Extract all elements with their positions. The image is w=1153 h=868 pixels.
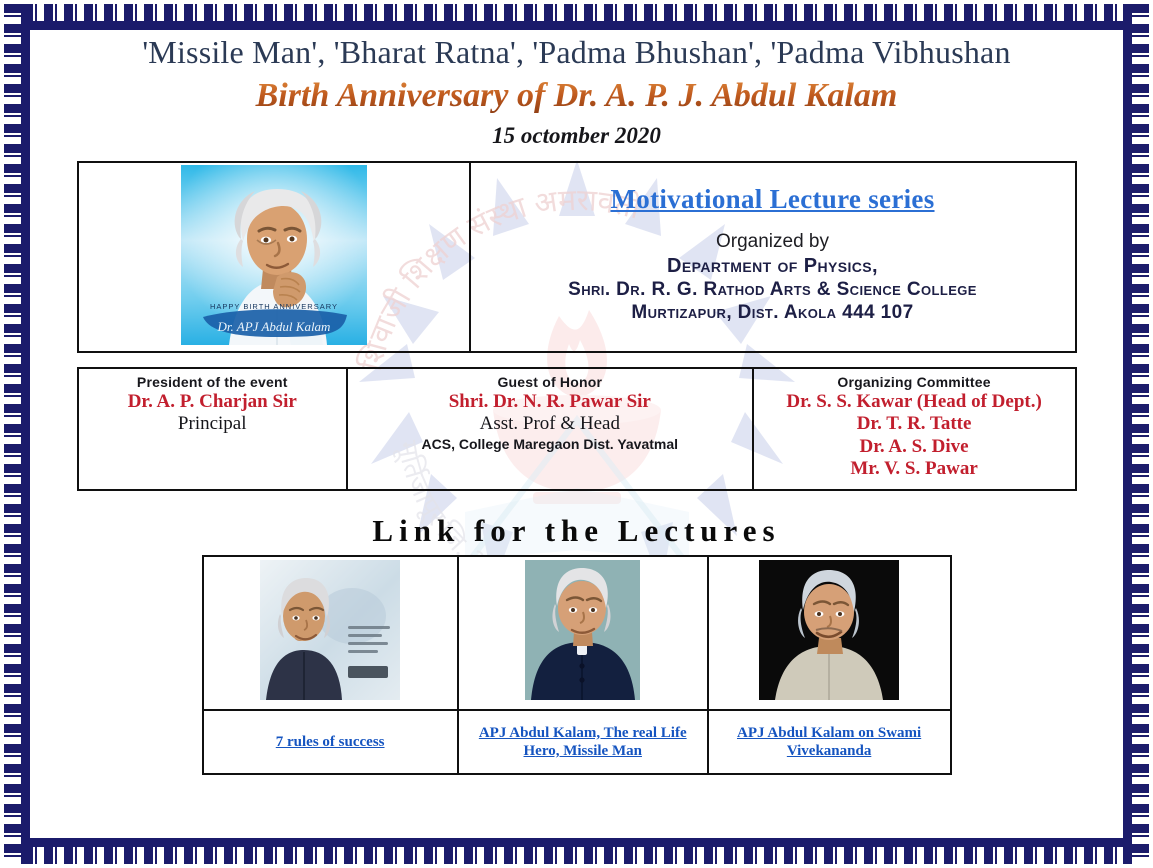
president-role-label: President of the event [85, 374, 340, 390]
border-top [4, 4, 1149, 30]
organizing-committee-cell: Organizing Committee Dr. S. S. Kawar (He… [753, 368, 1076, 490]
page-title: Birth Anniversary of Dr. A. P. J. Abdul … [34, 77, 1119, 115]
event-date: 15 octomber 2020 [34, 123, 1119, 149]
lecture-series-title: Motivational Lecture series [481, 184, 1065, 215]
lecture-link-cell-1[interactable]: 7 rules of success [203, 710, 458, 774]
lecture-info-cell: Motivational Lecture series Organized by… [470, 162, 1076, 352]
lecture-link-3[interactable]: APJ Abdul Kalam on Swami Vivekananda [715, 724, 944, 760]
president-cell: President of the event Dr. A. P. Charjan… [78, 368, 347, 490]
border-right [1123, 4, 1149, 864]
guest-role-label: Guest of Honor [354, 374, 746, 390]
poster-canvas: शिवाजी शिक्षण संस्था अमरावती मूर्तिजापूर… [34, 32, 1119, 836]
lecture-thumbnail-1 [260, 560, 400, 700]
committee-head: Dr. S. S. Kawar (Head of Dept.) [760, 391, 1069, 413]
table-row: 7 rules of success APJ Abdul Kalam, The … [203, 710, 951, 774]
department-name: Department of Physics, [481, 254, 1065, 278]
lecture-link-cell-2[interactable]: APJ Abdul Kalam, The real Life Hero, Mis… [458, 710, 708, 774]
table-row: HAPPY BIRTH ANNIVERSARY Dr. APJ Abdul Ka… [78, 162, 1076, 352]
border-left [4, 4, 30, 864]
table-row: President of the event Dr. A. P. Charjan… [78, 368, 1076, 490]
guest-affiliation: ACS, College Maregaon Dist. Yavatmal [354, 436, 746, 454]
lecture-thumb-cell-3[interactable] [708, 556, 951, 710]
header-table: HAPPY BIRTH ANNIVERSARY Dr. APJ Abdul Ka… [77, 161, 1077, 353]
svg-text:Dr. APJ Abdul Kalam: Dr. APJ Abdul Kalam [216, 319, 330, 334]
honorific-titles-line: 'Missile Man', 'Bharat Ratna', 'Padma Bh… [34, 34, 1119, 71]
border-bottom [4, 838, 1149, 864]
guest-of-honor-cell: Guest of Honor Shri. Dr. N. R. Pawar Sir… [347, 368, 753, 490]
president-designation: Principal [85, 413, 340, 436]
kalam-poster-cell: HAPPY BIRTH ANNIVERSARY Dr. APJ Abdul Ka… [78, 162, 470, 352]
lecture-link-cell-3[interactable]: APJ Abdul Kalam on Swami Vivekananda [708, 710, 951, 774]
committee-member: Dr. T. R. Tatte [760, 413, 1069, 435]
lecture-links-table: 7 rules of success APJ Abdul Kalam, The … [202, 555, 952, 775]
lecture-link-1[interactable]: 7 rules of success [276, 733, 385, 751]
lecture-thumb-cell-1[interactable] [203, 556, 458, 710]
organized-by-label: Organized by [481, 231, 1065, 253]
lecture-thumbnail-3 [759, 560, 899, 700]
lecture-link-2[interactable]: APJ Abdul Kalam, The real Life Hero, Mis… [465, 724, 701, 760]
committee-member: Dr. A. S. Dive [760, 436, 1069, 458]
committee-member: Mr. V. S. Pawar [760, 458, 1069, 480]
president-name: Dr. A. P. Charjan Sir [85, 391, 340, 413]
links-section-heading: Link for the Lectures [34, 513, 1119, 549]
table-row [203, 556, 951, 710]
college-address: Murtizapur, Dist. Akola 444 107 [481, 301, 1065, 324]
guest-designation: Asst. Prof & Head [354, 413, 746, 436]
lecture-thumb-cell-2[interactable] [458, 556, 708, 710]
dignitaries-table: President of the event Dr. A. P. Charjan… [77, 367, 1077, 491]
svg-text:HAPPY BIRTH ANNIVERSARY: HAPPY BIRTH ANNIVERSARY [209, 302, 337, 311]
kalam-anniversary-poster: HAPPY BIRTH ANNIVERSARY Dr. APJ Abdul Ka… [181, 165, 367, 345]
college-name: Shri. Dr. R. G. Rathod Arts & Science Co… [481, 278, 1065, 301]
committee-role-label: Organizing Committee [760, 374, 1069, 390]
lecture-thumbnail-2 [525, 560, 640, 700]
guest-name: Shri. Dr. N. R. Pawar Sir [354, 391, 746, 413]
